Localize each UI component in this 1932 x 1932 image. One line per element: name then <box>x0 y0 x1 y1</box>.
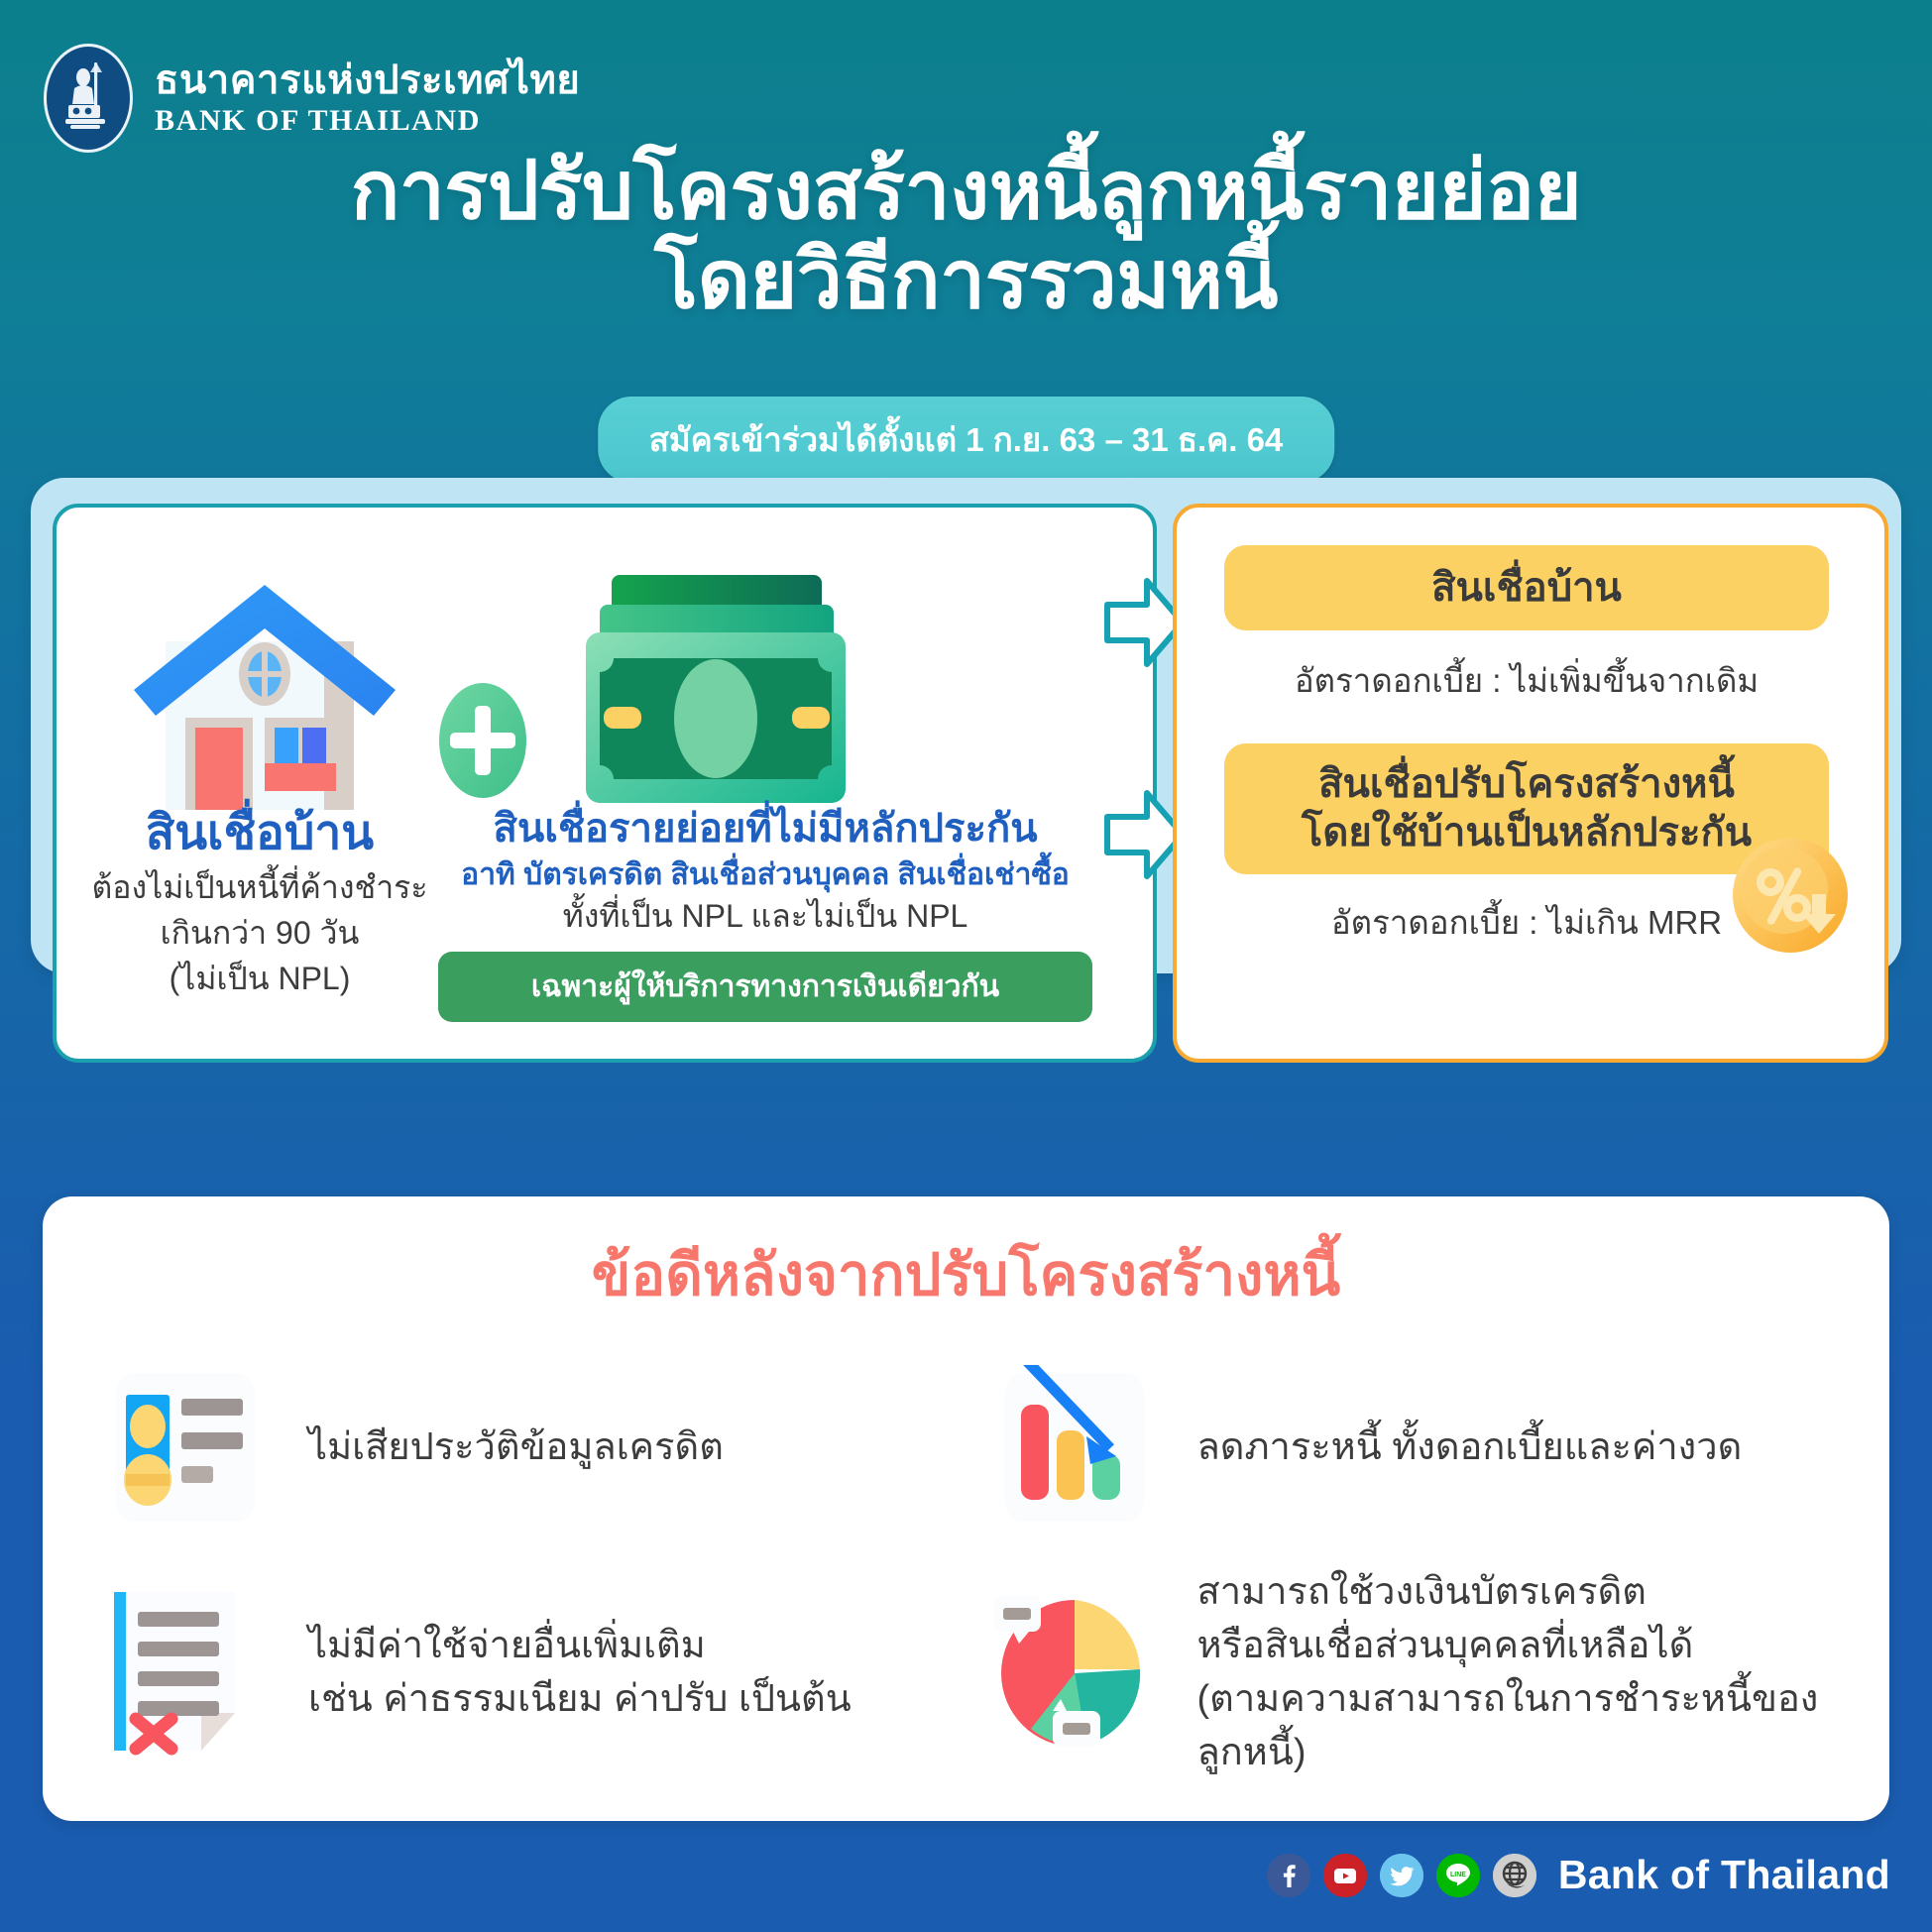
website-globe-icon[interactable] <box>1493 1854 1536 1897</box>
output-home-loan-rate: อัตราดอกเบี้ย : ไม่เพิ่มขึ้นจากเดิม <box>1224 654 1829 707</box>
benefit-1-line-1: ไม่เสียประวัติข้อมูลเครดิต <box>308 1421 724 1475</box>
infographic-page: ธนาคารแห่งประเทศไทย BANK OF THAILAND การ… <box>0 0 1932 1932</box>
title-line-2: โดยวิธีการรวมหนี้ <box>0 235 1932 326</box>
output-loans-card: สินเชื่อบ้าน อัตราดอกเบี้ย : ไม่เพิ่มขึ้… <box>1173 504 1888 1063</box>
benefits-section: ข้อดีหลังจากปรับโครงสร้างหนี้ ไม่เสียประ… <box>43 1196 1889 1821</box>
footer-social-bar: LINE Bank of Thailand <box>1267 1852 1890 1898</box>
youtube-icon[interactable] <box>1323 1854 1367 1897</box>
retail-loan-npl-note: ทั้งที่เป็น NPL และไม่เป็น NPL <box>413 896 1117 938</box>
id-card-icon <box>102 1365 283 1532</box>
benefit-4-line-3: (ตามความสามารถในการชำระหนี้ของลูกหนี้) <box>1197 1673 1833 1780</box>
brand-header: ธนาคารแห่งประเทศไทย BANK OF THAILAND <box>44 44 580 153</box>
benefit-item: ลดภาระหนี้ ทั้งดอกเบี้ยและค่างวด <box>991 1341 1833 1554</box>
retail-loan-label: สินเชื่อรายย่อยที่ไม่มีหลักประกัน อาทิ บ… <box>413 805 1117 1022</box>
benefit-4-line-1: สามารถใช้วงเงินบัตรเครดิต <box>1197 1566 1833 1620</box>
percent-down-coin-icon <box>1730 835 1851 956</box>
page-title: การปรับโครงสร้างหนี้ลูกหนี้รายย่อย โดยวิ… <box>0 149 1932 326</box>
twitter-icon[interactable] <box>1380 1854 1423 1897</box>
retail-loan-heading: สินเชื่อรายย่อยที่ไม่มีหลักประกัน <box>413 805 1117 852</box>
home-loan-heading: สินเชื่อบ้าน <box>66 805 453 862</box>
output-restructure-title-line-2: โดยใช้บ้านเป็นหลักประกัน <box>1302 809 1752 857</box>
benefit-3-line-2: เช่น ค่าธรรมเนียม ค่าปรับ เป็นต้น <box>308 1673 852 1727</box>
benefit-item: ไม่มีค่าใช้จ่ายอื่นเพิ่มเติม เช่น ค่าธรร… <box>102 1554 944 1792</box>
benefits-heading: ข้อดีหลังจากปรับโครงสร้างหนี้ <box>43 1228 1889 1320</box>
home-loan-label: สินเชื่อบ้าน ต้องไม่เป็นหนี้ที่ค้างชำระ … <box>66 805 453 999</box>
brand-name-english: BANK OF THAILAND <box>155 105 580 137</box>
output-restructure-title-line-1: สินเชื่อปรับโครงสร้างหนี้ <box>1302 760 1752 809</box>
plus-icon <box>433 676 532 805</box>
home-loan-line-1: ต้องไม่เป็นหนี้ที่ค้างชำระ <box>66 866 453 908</box>
benefits-grid: ไม่เสียประวัติข้อมูลเครดิต ลดภาระหนี้ ทั… <box>102 1341 1832 1792</box>
benefit-4-line-2: หรือสินเชื่อส่วนบุคคลที่เหลือได้ <box>1197 1620 1833 1673</box>
output-home-loan-title: สินเชื่อบ้าน <box>1431 564 1622 613</box>
line-icon[interactable]: LINE <box>1436 1854 1480 1897</box>
brand-name-thai: ธนาคารแห่งประเทศไทย <box>155 59 580 101</box>
input-loans-card: สินเชื่อบ้าน ต้องไม่เป็นหนี้ที่ค้างชำระ … <box>53 504 1157 1063</box>
svg-text:LINE: LINE <box>1450 1872 1466 1878</box>
retail-loan-examples: อาทิ บัตรเครดิต สินเชื่อส่วนบุคคล สินเชื… <box>413 855 1117 894</box>
benefit-item: ไม่เสียประวัติข้อมูลเครดิต <box>102 1341 944 1554</box>
main-panel: สินเชื่อบ้าน ต้องไม่เป็นหนี้ที่ค้างชำระ … <box>31 478 1901 973</box>
enrollment-period-badge: สมัครเข้าร่วมได้ตั้งแต่ 1 ก.ย. 63 – 31 ธ… <box>598 397 1335 483</box>
home-loan-line-3: (ไม่เป็น NPL) <box>66 958 453 999</box>
home-loan-line-2: เกินกว่า 90 วัน <box>66 912 453 954</box>
benefit-2-line-1: ลดภาระหนี้ ทั้งดอกเบี้ยและค่างวด <box>1197 1421 1743 1475</box>
benefit-item: สามารถใช้วงเงินบัตรเครดิต หรือสินเชื่อส่… <box>991 1554 1833 1792</box>
same-provider-pill: เฉพาะผู้ให้บริการทางการเงินเดียวกัน <box>438 952 1092 1022</box>
bank-of-thailand-seal-icon <box>44 44 133 153</box>
pie-chart-icon <box>991 1590 1172 1757</box>
output-home-loan-box: สินเชื่อบ้าน <box>1224 545 1829 630</box>
title-line-1: การปรับโครงสร้างหนี้ลูกหนี้รายย่อย <box>0 149 1932 235</box>
banknote-icon <box>572 567 859 815</box>
document-x-icon <box>102 1590 283 1757</box>
benefit-3-line-1: ไม่มีค่าใช้จ่ายอื่นเพิ่มเติม <box>308 1620 852 1673</box>
house-icon <box>126 567 403 815</box>
footer-brand-name: Bank of Thailand <box>1558 1852 1890 1898</box>
facebook-icon[interactable] <box>1267 1854 1310 1897</box>
bar-chart-down-icon <box>991 1365 1172 1532</box>
